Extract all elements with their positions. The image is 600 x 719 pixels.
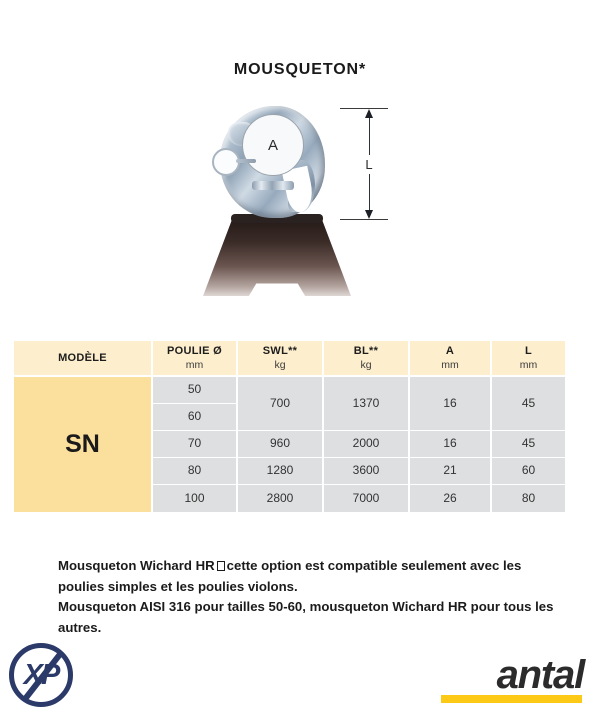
table-header-modele-label: MODÈLE bbox=[58, 352, 107, 365]
dimension-l-arrow-down-icon bbox=[365, 210, 373, 219]
table-header-l-label: L bbox=[525, 345, 532, 358]
table-header-bl-unit: kg bbox=[360, 359, 371, 371]
carabiner-icon: A bbox=[212, 106, 332, 221]
table-header-swl: SWL** kg bbox=[238, 341, 322, 375]
dimension-l-arrow-up-icon bbox=[365, 109, 373, 118]
table-cell-bl-50-60: 1370 bbox=[324, 377, 408, 430]
table-header-a-label: A bbox=[446, 345, 454, 358]
table-cell-l-70: 45 bbox=[492, 431, 565, 457]
table-cell-swl-80: 1280 bbox=[238, 458, 322, 484]
carabiner-rivets-icon bbox=[252, 181, 294, 190]
table-cell-swl-100: 2800 bbox=[238, 485, 322, 512]
table-cell-a-70: 16 bbox=[410, 431, 490, 457]
table-cell-bl-80: 3600 bbox=[324, 458, 408, 484]
missing-glyph-icon bbox=[217, 561, 225, 571]
xp-logo: XP bbox=[6, 640, 78, 712]
table-cell-l-100: 80 bbox=[492, 485, 565, 512]
product-illustration: A L bbox=[190, 100, 420, 300]
table-cell-swl-70: 960 bbox=[238, 431, 322, 457]
table-header-l: L mm bbox=[492, 341, 565, 375]
specification-table: MODÈLE POULIE Ø mm SWL** kg BL** kg A bbox=[14, 341, 565, 512]
table-header-modele: MODÈLE bbox=[14, 341, 151, 375]
table-header-l-unit: mm bbox=[520, 359, 538, 371]
table-cell-a-80: 21 bbox=[410, 458, 490, 484]
dimension-l-tick-top bbox=[340, 108, 388, 109]
table-header-poulie: POULIE Ø mm bbox=[153, 341, 236, 375]
footnote-line-2: Mousqueton AISI 316 pour tailles 50-60, … bbox=[58, 597, 558, 638]
footnote-1-before: Mousqueton Wichard HR bbox=[58, 558, 215, 573]
product-datasheet-page: MOUSQUETON* A L MODÈL bbox=[0, 0, 600, 719]
table-header-a-unit: mm bbox=[441, 359, 459, 371]
antal-logo-bar bbox=[441, 695, 582, 703]
table-cell-poulie-80: 80 bbox=[153, 458, 236, 484]
table-header-poulie-label: POULIE Ø bbox=[167, 345, 222, 358]
table-cell-bl-100: 7000 bbox=[324, 485, 408, 512]
table-cell-l-80: 60 bbox=[492, 458, 565, 484]
table-cell-poulie-50: 50 bbox=[153, 377, 236, 403]
footnotes: Mousqueton Wichard HRcette option est co… bbox=[58, 556, 558, 638]
table-cell-bl-70: 2000 bbox=[324, 431, 408, 457]
table-cell-poulie-100: 100 bbox=[153, 485, 236, 512]
table-cell-poulie-60: 60 bbox=[153, 404, 236, 430]
table-cell-l-50-60: 45 bbox=[492, 377, 565, 430]
table-cell-swl-50-60: 700 bbox=[238, 377, 322, 430]
table-header-bl-label: BL** bbox=[354, 345, 378, 358]
dimension-a-label: A bbox=[242, 114, 304, 176]
xp-logo-text: XP bbox=[6, 640, 76, 710]
table-cell-a-100: 26 bbox=[410, 485, 490, 512]
table-header-swl-unit: kg bbox=[274, 359, 285, 371]
ring-pin-icon bbox=[236, 159, 256, 163]
table-header-bl: BL** kg bbox=[324, 341, 408, 375]
page-title: MOUSQUETON* bbox=[0, 61, 600, 79]
dimension-l-measure: L bbox=[340, 108, 400, 220]
table-header-poulie-unit: mm bbox=[186, 359, 204, 371]
table-header-swl-label: SWL** bbox=[263, 345, 298, 358]
table-header-a: A mm bbox=[410, 341, 490, 375]
footnote-line-1: Mousqueton Wichard HRcette option est co… bbox=[58, 556, 558, 597]
pulley-base-icon bbox=[203, 218, 351, 296]
dimension-l-tick-bottom bbox=[340, 219, 388, 220]
antal-logo: antal bbox=[424, 655, 584, 707]
antal-logo-text: antal bbox=[497, 655, 584, 695]
table-cell-model-sn: SN bbox=[14, 377, 151, 512]
table-cell-a-50-60: 16 bbox=[410, 377, 490, 430]
table-cell-poulie-70: 70 bbox=[153, 431, 236, 457]
dimension-l-label: L bbox=[357, 155, 381, 174]
